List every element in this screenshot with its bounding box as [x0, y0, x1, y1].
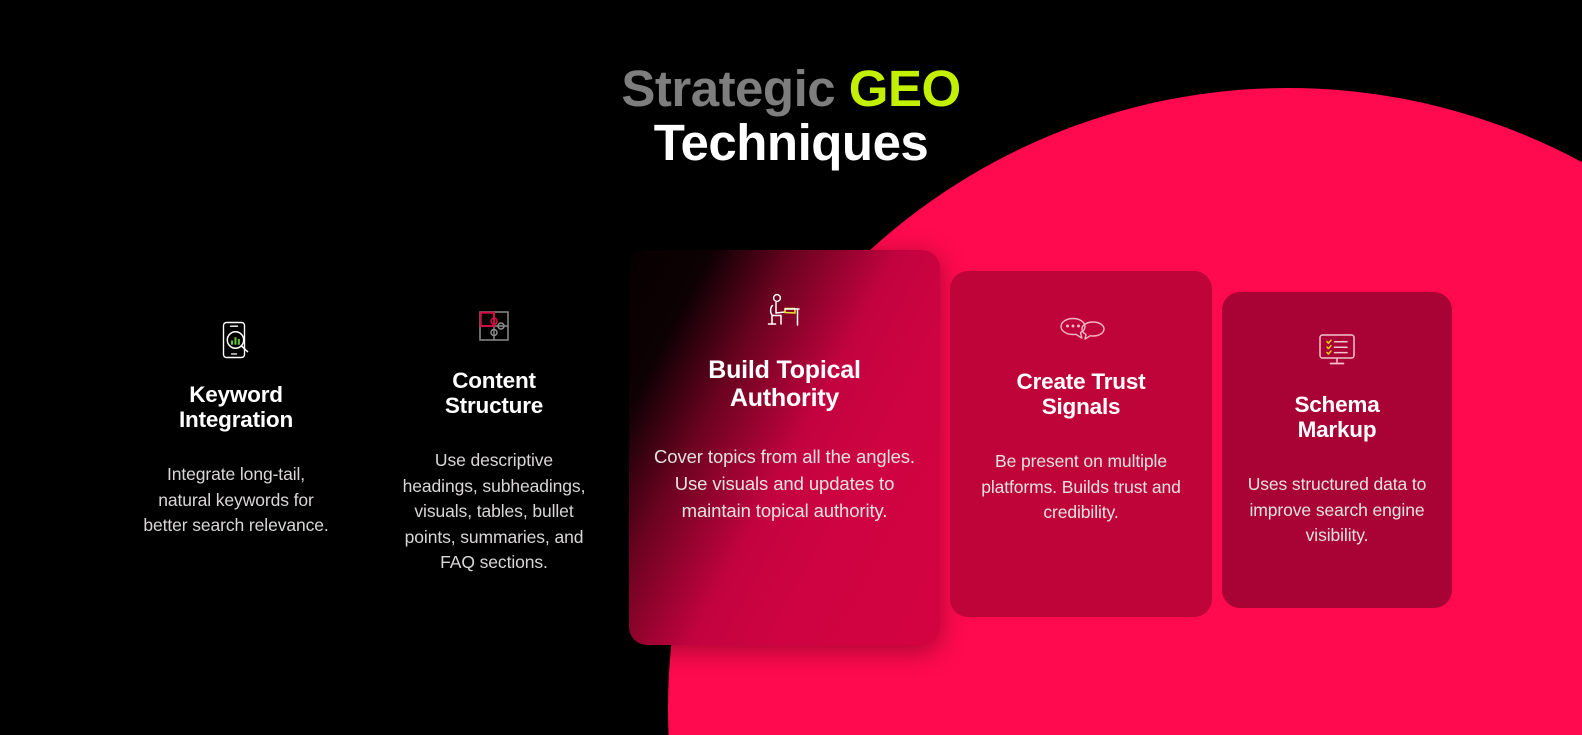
page-title-line-2: Techniques — [0, 116, 1582, 170]
card-create-trust-signals[interactable]: Create Trust Signals Be present on multi… — [950, 271, 1212, 617]
card-title: Create Trust Signals — [964, 369, 1198, 419]
card-description: Be present on multiple platforms. Builds… — [964, 449, 1198, 525]
card-description: Use descriptive headings, subheadings, v… — [396, 448, 592, 575]
card-description: Integrate long-tail, natural keywords fo… — [142, 462, 330, 538]
person-at-desk-icon — [643, 284, 926, 340]
card-title: Schema Markup — [1236, 392, 1438, 442]
chat-bubbles-icon — [964, 299, 1198, 355]
card-title-line-2: Authority — [643, 384, 926, 412]
slide-canvas: Strategic GEO Techniques Keyw — [0, 0, 1582, 735]
card-title-line-2: Signals — [964, 394, 1198, 419]
puzzle-pieces-icon — [396, 298, 592, 354]
card-title-line-1: Create Trust — [964, 369, 1198, 394]
monitor-checklist-icon — [1236, 322, 1438, 378]
page-title-word-geo: GEO — [849, 60, 961, 117]
phone-search-chart-icon — [142, 312, 330, 368]
card-content-structure[interactable]: Content Structure Use descriptive headin… — [382, 298, 606, 558]
page-title-word-strategic: Strategic — [621, 60, 835, 117]
card-title-line-2: Markup — [1236, 417, 1438, 442]
card-title-line-1: Keyword — [142, 382, 330, 407]
card-description: Cover topics from all the angles. Use vi… — [643, 444, 926, 524]
card-title-line-1: Build Topical — [643, 356, 926, 384]
card-title: Content Structure — [396, 368, 592, 418]
card-description: Uses structured data to improve search e… — [1236, 472, 1438, 548]
page-title-line-1: Strategic GEO — [0, 62, 1582, 116]
card-schema-markup[interactable]: Schema Markup Uses structured data to im… — [1222, 292, 1452, 608]
page-title: Strategic GEO Techniques — [0, 62, 1582, 169]
card-title-line-1: Content — [396, 368, 592, 393]
card-title-line-1: Schema — [1236, 392, 1438, 417]
card-keyword-integration[interactable]: Keyword Integration Integrate long-tail,… — [128, 312, 344, 542]
card-build-topical-authority[interactable]: Build Topical Authority Cover topics fro… — [629, 250, 940, 645]
card-title-line-2: Structure — [396, 393, 592, 418]
card-title: Keyword Integration — [142, 382, 330, 432]
card-title: Build Topical Authority — [643, 356, 926, 412]
card-title-line-2: Integration — [142, 407, 330, 432]
